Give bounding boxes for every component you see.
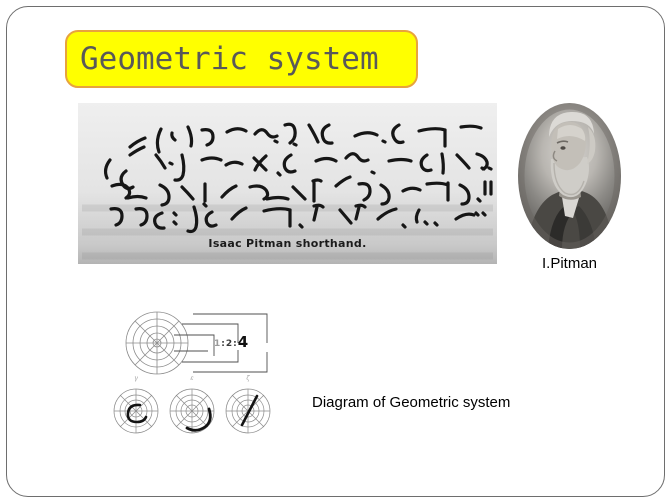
circle-diagram-2: [170, 389, 214, 433]
circle-diagram-1: [114, 389, 158, 433]
slide: Geometric system: [0, 0, 672, 504]
geometric-diagram-caption: Diagram of Geometric system: [312, 394, 510, 411]
ratio-label: 1:2:4: [214, 333, 249, 351]
circle-diagram-1-label: γ: [134, 375, 138, 382]
shorthand-caption: Isaac Pitman shorthand.: [78, 237, 497, 250]
portrait-caption: I.Pitman: [498, 255, 641, 272]
circle-diagram-3-label: ζ: [246, 375, 250, 382]
portrait-photo: [518, 103, 621, 249]
circle-diagram-2-label: ε: [190, 375, 193, 382]
portrait-figure: I.Pitman: [518, 103, 621, 249]
circle-diagram-3: [226, 389, 270, 433]
page-title: Geometric system: [67, 44, 379, 75]
geometric-system-diagram: γ ε ζ: [110, 310, 305, 440]
geometric-diagram-illustration: γ ε ζ: [110, 310, 305, 440]
ratio-third: 4: [238, 333, 249, 351]
title-banner: Geometric system: [65, 30, 418, 88]
shorthand-sample-image: Isaac Pitman shorthand.: [78, 103, 497, 264]
portrait-illustration: [518, 103, 621, 249]
